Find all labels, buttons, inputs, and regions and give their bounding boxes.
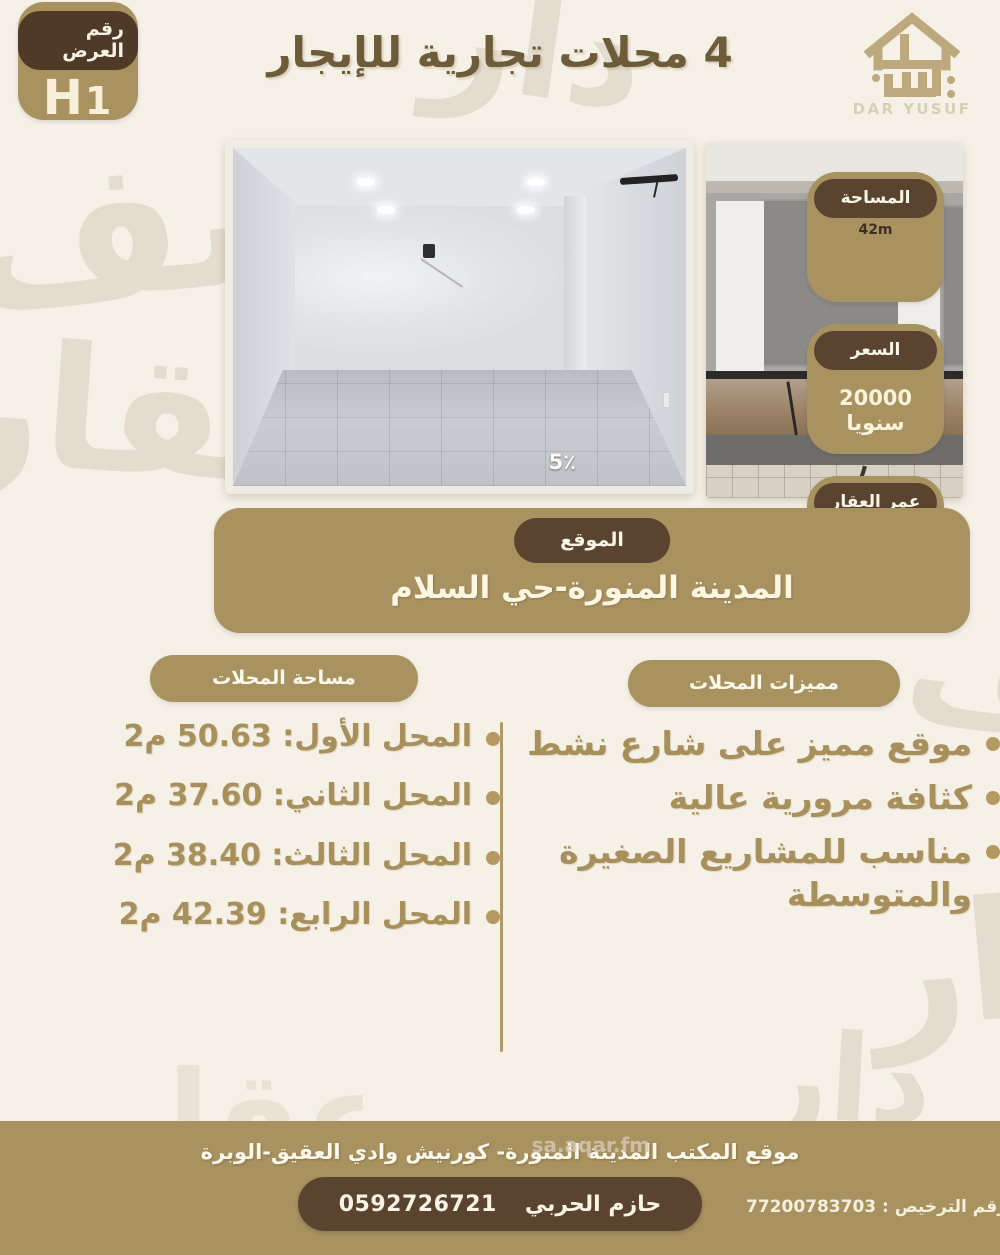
ceiling-spotlight-icon <box>377 206 395 214</box>
list-item: المحل الثاني: 37.60 م2 <box>60 777 500 815</box>
column-divider <box>500 722 503 1052</box>
stat-card-price: السعر 20000 سنويا <box>807 324 944 454</box>
office-location-bar: موقع المكتب المدينة المنورة- كورنيش وادي… <box>0 1121 1000 1183</box>
site-watermark: sa.aqar.fm <box>532 1133 650 1157</box>
shop-area-text: المحل الثالث: 38.40 م2 <box>60 837 472 875</box>
license-label: رقم الترخيص : <box>882 1197 1000 1217</box>
bullet-dot-icon <box>986 845 1000 859</box>
license-info: رقم الترخيص : 77200783703 <box>746 1197 1000 1217</box>
list-item: المحل الأول: 50.63 م2 <box>60 718 500 756</box>
feature-text: كثافة مرورية عالية <box>510 777 972 819</box>
agent-phone-number[interactable]: 0592726721 <box>339 1192 497 1217</box>
list-item: مناسب للمشاريع الصغيرة والمتوسطة <box>510 831 1000 915</box>
shop-area-text: المحل الثاني: 37.60 م2 <box>60 777 472 815</box>
offer-badge-code: H1 <box>43 72 114 125</box>
ceiling-spotlight-icon <box>357 178 375 186</box>
list-item: المحل الثالث: 38.40 م2 <box>60 837 500 875</box>
shop-areas-column: مساحة المحلات المحل الأول: 50.63 م2 المح… <box>60 655 500 956</box>
location-banner: الموقع المدينة المنورة-حي السلام <box>214 508 970 633</box>
location-value: المدينة المنورة-حي السلام <box>214 570 970 606</box>
contact-footer: حازم الحربي 0592726721 رقم الترخيص : 772… <box>0 1183 1000 1255</box>
agent-name: حازم الحربي <box>525 1192 661 1217</box>
features-column: مميزات المحلات موقع مميز على شارع نشط كث… <box>510 660 1000 928</box>
details-section: مميزات المحلات موقع مميز على شارع نشط كث… <box>0 660 1000 1080</box>
ceiling-spotlight-icon <box>527 178 545 186</box>
shop-area-text: المحل الأول: 50.63 م2 <box>60 718 472 756</box>
shop-areas-list: المحل الأول: 50.63 م2 المحل الثاني: 37.6… <box>60 718 500 935</box>
stat-label-area: المساحة <box>814 179 937 218</box>
shop-areas-heading: مساحة المحلات <box>150 655 418 702</box>
bullet-dot-icon <box>486 910 500 924</box>
brand-logo: DAR YUSUF <box>842 8 982 136</box>
license-number: 77200783703 <box>746 1197 876 1217</box>
ceiling-spotlight-icon <box>517 206 535 214</box>
interior-photo-watermark: 5٪ <box>549 450 576 474</box>
feature-text: مناسب للمشاريع الصغيرة والمتوسطة <box>510 831 972 915</box>
office-location-text: موقع المكتب المدينة المنورة- كورنيش وادي… <box>201 1140 800 1164</box>
offer-code-number: 1 <box>85 79 113 123</box>
agent-contact-pill[interactable]: حازم الحربي 0592726721 <box>298 1177 702 1231</box>
bullet-dot-icon <box>486 791 500 805</box>
stat-card-area: المساحة 42m <box>807 172 944 302</box>
offer-code-letter: H <box>43 70 85 126</box>
shop-area-text: المحل الرابع: 42.39 م2 <box>60 896 472 934</box>
list-item: المحل الرابع: 42.39 م2 <box>60 896 500 934</box>
interior-shop-photo[interactable]: 5٪ <box>225 140 694 494</box>
list-item: موقع مميز على شارع نشط <box>510 723 1000 765</box>
feature-text: موقع مميز على شارع نشط <box>510 723 972 765</box>
page-header: رقم العرض H1 4 محلات تجارية للإيجار <box>0 0 1000 140</box>
bullet-dot-icon <box>486 851 500 865</box>
light-switch-icon <box>663 392 670 408</box>
location-label: الموقع <box>514 518 670 563</box>
bullet-dot-icon <box>986 791 1000 805</box>
house-roof-logo-icon <box>854 8 970 104</box>
stat-label-price: السعر <box>814 331 937 370</box>
list-item: كثافة مرورية عالية <box>510 777 1000 819</box>
stat-value-area: 42m <box>814 222 937 239</box>
features-heading: مميزات المحلات <box>628 660 900 707</box>
bullet-dot-icon <box>986 737 1000 751</box>
features-list: موقع مميز على شارع نشط كثافة مرورية عالي… <box>510 723 1000 916</box>
bullet-dot-icon <box>486 732 500 746</box>
stat-value-price: 20000 سنويا <box>814 386 937 436</box>
